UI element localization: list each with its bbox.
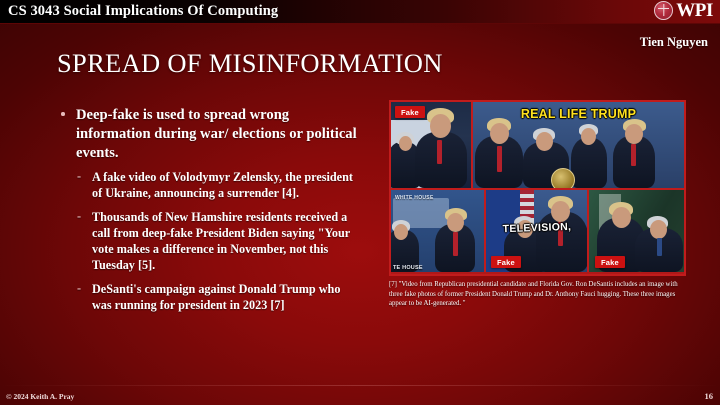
television-overlay: TELEVISION,: [502, 221, 571, 235]
slide-body: Deep-fake is used to spread wrong inform…: [60, 106, 360, 323]
figure-container: Fake: [389, 100, 686, 309]
bullet-dash-icon: -: [77, 209, 81, 225]
image-grid-row-bottom: WHITE HOUSE TE HOUSE TELEVISION,: [391, 188, 684, 272]
slide-page-number: 16: [705, 391, 714, 401]
bullet-text: Deep-fake is used to spread wrong inform…: [76, 107, 357, 161]
white-house-watermark: WHITE HOUSE: [395, 195, 434, 201]
presentation-slide: CS 3043 Social Implications Of Computing…: [0, 0, 720, 405]
bullet-dot-icon: [61, 112, 65, 116]
sub-bullet-list: - A fake video of Volodymyr Zelensky, th…: [60, 170, 360, 314]
image-panel-top-right: REAL LIFE TRUMP: [471, 102, 684, 188]
bullet-text: Thousands of New Hamshire residents rece…: [92, 210, 350, 271]
image-grid-row-top: Fake: [391, 102, 684, 188]
image-panel-top-left: Fake: [391, 102, 471, 188]
bullet-level2: - A fake video of Volodymyr Zelensky, th…: [76, 170, 360, 201]
bullet-level2: - DeSanti's campaign against Donald Trum…: [76, 282, 360, 313]
wpi-crest-icon: [654, 1, 673, 20]
slide-title: SPREAD OF MISINFORMATION: [57, 48, 443, 79]
course-title: CS 3043 Social Implications Of Computing: [8, 3, 278, 20]
bullet-level1: Deep-fake is used to spread wrong inform…: [60, 106, 360, 163]
fake-badge: Fake: [491, 256, 521, 268]
presidential-seal-icon: [551, 168, 575, 188]
bullet-text: A fake video of Volodymyr Zelensky, the …: [92, 170, 353, 200]
bullet-text: DeSanti's campaign against Donald Trump …: [92, 282, 340, 312]
figure-caption: [7] "Video from Republican presidential …: [389, 280, 686, 309]
wpi-logo: WPI: [654, 1, 713, 20]
image-panel-bottom-middle: TELEVISION, Fake: [484, 190, 587, 272]
wpi-logo-text: WPI: [676, 1, 713, 20]
deepfake-image-grid: Fake: [389, 100, 686, 276]
bullet-dash-icon: -: [77, 281, 81, 297]
white-house-corner-label: TE HOUSE: [393, 265, 423, 271]
fake-badge: Fake: [595, 256, 625, 268]
slide-header-bar: CS 3043 Social Implications Of Computing…: [0, 0, 720, 24]
real-life-trump-overlay: REAL LIFE TRUMP: [521, 107, 636, 121]
image-panel-bottom-left: WHITE HOUSE TE HOUSE: [391, 190, 484, 272]
footer-divider: [0, 385, 720, 386]
image-panel-bottom-right: Fake: [587, 190, 684, 272]
footer-copyright: © 2024 Keith A. Pray: [6, 392, 74, 401]
fake-badge: Fake: [395, 106, 425, 118]
bullet-dash-icon: -: [77, 169, 81, 185]
bullet-level2: - Thousands of New Hamshire residents re…: [76, 210, 360, 273]
author-name: Tien Nguyen: [640, 35, 708, 50]
